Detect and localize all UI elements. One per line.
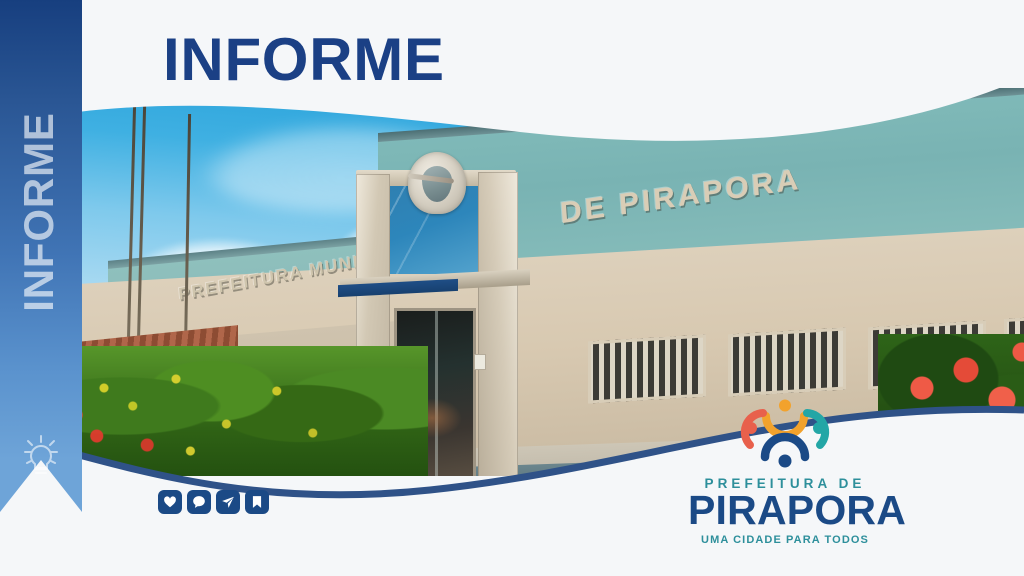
entrance-sign	[474, 354, 486, 370]
heart-icon[interactable]	[158, 490, 182, 514]
brand-logo: PREFEITURA DE PIRAPORA UMA CIDADE PARA T…	[688, 398, 882, 532]
comment-icon[interactable]	[187, 490, 211, 514]
building-photo: DE PIRAPORA PREFEITURA MUNICIPAL	[78, 88, 1024, 476]
page-title: INFORME	[163, 30, 445, 90]
city-crest-icon	[408, 152, 466, 214]
flowers-right	[878, 334, 1024, 476]
window-grille	[588, 334, 706, 403]
banner-canvas: DE PIRAPORA PREFEITURA MUNICIPAL	[0, 0, 1024, 576]
bookmark-icon[interactable]	[245, 490, 269, 514]
pirapora-people-logo-icon	[737, 398, 833, 472]
hedge-left	[78, 346, 428, 476]
brand-tagline: UMA CIDADE PARA TODOS	[688, 534, 882, 546]
lightbulb-icon	[17, 432, 65, 484]
ribbon-label: INFORME	[15, 77, 63, 347]
entrance-column-right	[478, 172, 518, 476]
informe-ribbon: INFORME	[0, 0, 82, 512]
share-icon[interactable]	[216, 490, 240, 514]
window-grille	[728, 327, 846, 396]
brand-name: PIRAPORA	[688, 490, 882, 531]
social-engagement-bar	[158, 490, 269, 514]
